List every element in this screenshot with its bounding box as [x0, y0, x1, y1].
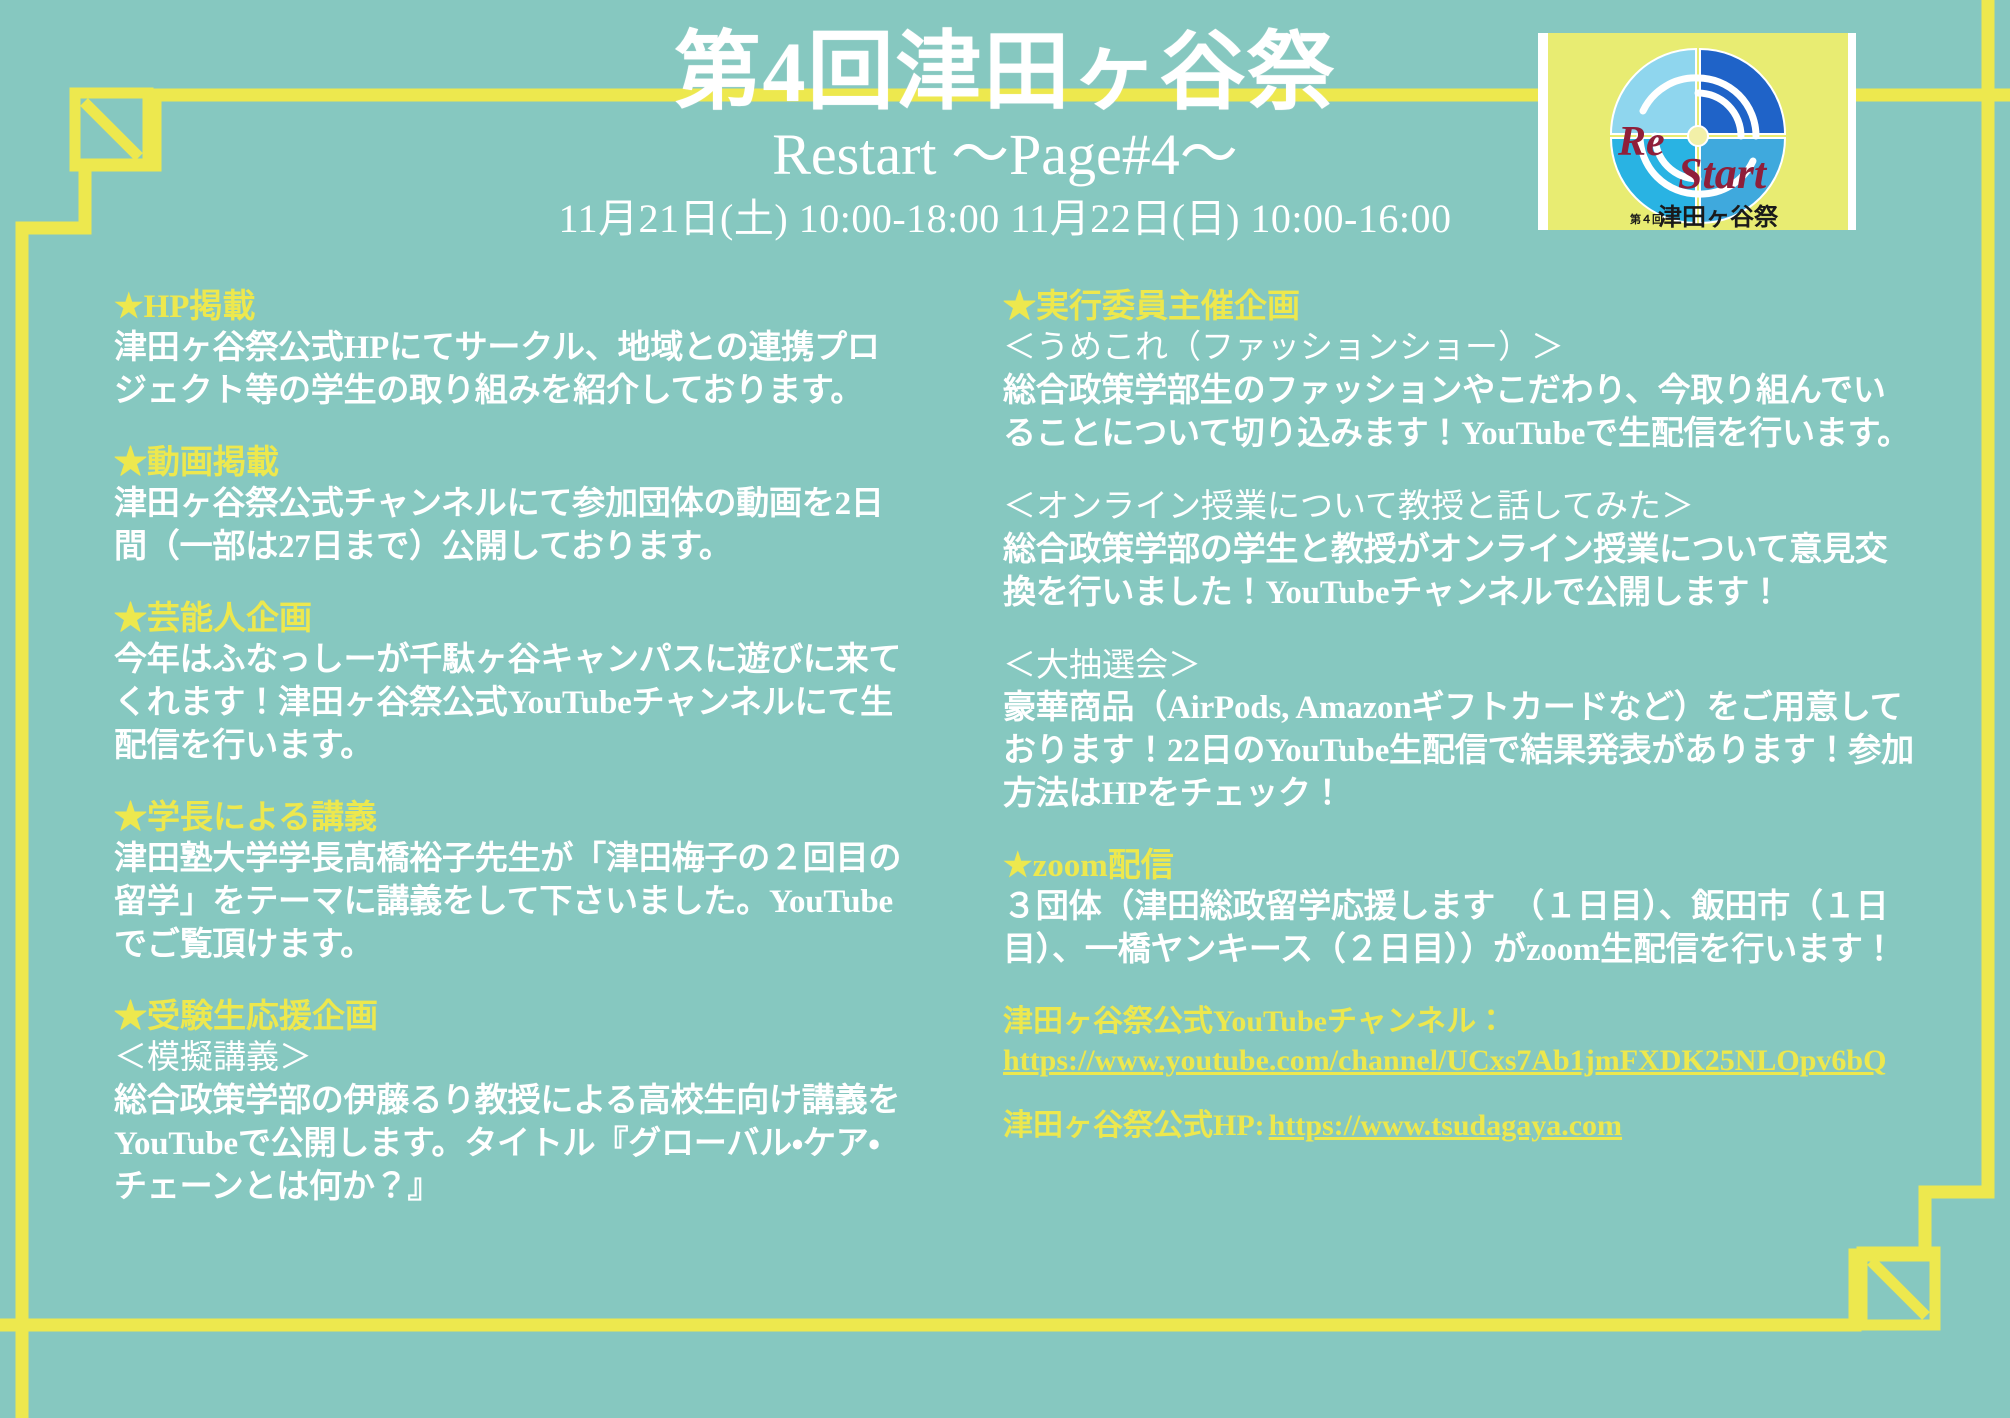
section-heading: ★学長による講義 — [114, 798, 904, 838]
section-committee-project: ★実行委員主催企画 ＜うめこれ（ファッションショー）＞ 総合政策学部生のファッシ… — [1003, 287, 1915, 456]
logo-artwork: Re Start 第４回 津田ヶ谷祭 — [1548, 33, 1848, 230]
section-body: 総合政策学部の伊藤るり教授による高校生向け講義をYouTubeで公開します。タイ… — [114, 1080, 904, 1209]
section-subheading: ＜模擬講義＞ — [114, 1037, 904, 1080]
logo-script-bottom: Start — [1678, 149, 1768, 198]
left-column: ★HP掲載 津田ヶ谷祭公式HPにてサークル、地域との連携プロジェクト等の学生の取… — [114, 287, 904, 1209]
hp-link-row: 津田ヶ谷祭公式HP: https://www.tsudagaya.com — [1003, 1106, 1915, 1145]
section-heading: ★zoom配信 — [1003, 846, 1915, 886]
section-heading: ★受験生応援企画 — [114, 997, 904, 1037]
right-column: ★実行委員主催企画 ＜うめこれ（ファッションショー）＞ 総合政策学部生のファッシ… — [1003, 287, 1915, 1145]
section-body: 豪華商品（AirPods, Amazonギフトカードなど）をご用意しております！… — [1003, 687, 1915, 816]
section-subheading: ＜大抽選会＞ — [1003, 645, 1915, 688]
logo-script-top: Re — [1617, 119, 1665, 165]
section-heading: ★HP掲載 — [114, 287, 904, 327]
section-heading: ★動画掲載 — [114, 443, 904, 483]
youtube-channel-link[interactable]: https://www.youtube.com/channel/UCxs7Ab1… — [1003, 1044, 1886, 1077]
section-exam-support: ★受験生応援企画 ＜模擬講義＞ 総合政策学部の伊藤るり教授による高校生向け講義を… — [114, 997, 904, 1209]
links-block: 津田ヶ谷祭公式YouTubeチャンネル： https://www.youtube… — [1003, 1002, 1915, 1145]
section-heading: ★芸能人企画 — [114, 599, 904, 639]
festival-logo: Re Start 第４回 津田ヶ谷祭 — [1538, 33, 1856, 230]
section-body: 津田ヶ谷祭公式HPにてサークル、地域との連携プロジェクト等の学生の取り組みを紹介… — [114, 327, 904, 413]
section-body: 総合政策学部生のファッションやこだわり、今取り組んでいることについて切り込みます… — [1003, 370, 1915, 456]
section-body: 総合政策学部の学生と教授がオンライン授業について意見交換を行いました！YouTu… — [1003, 529, 1915, 615]
section-online-class-talk: ＜オンライン授業について教授と話してみた＞ 総合政策学部の学生と教授がオンライン… — [1003, 486, 1915, 615]
hp-label: 津田ヶ谷祭公式HP: — [1003, 1109, 1265, 1142]
section-president-lecture: ★学長による講義 津田塾大学学長髙橋裕子先生が「津田梅子の２回目の留学」をテーマ… — [114, 798, 904, 967]
section-grand-lottery: ＜大抽選会＞ 豪華商品（AirPods, Amazonギフトカードなど）をご用意… — [1003, 645, 1915, 817]
section-body: 津田塾大学学長髙橋裕子先生が「津田梅子の２回目の留学」をテーマに講義をして下さい… — [114, 838, 904, 967]
youtube-channel-label: 津田ヶ谷祭公式YouTubeチャンネル： — [1003, 1002, 1915, 1041]
section-video-listing: ★動画掲載 津田ヶ谷祭公式チャンネルにて参加団体の動画を2日間（一部は27日まで… — [114, 443, 904, 569]
poster-root: 第4回津田ヶ谷祭 Restart ～Page#4～ 11月21日(土) 10:0… — [0, 0, 2010, 1418]
logo-caption: 津田ヶ谷祭 — [1658, 203, 1779, 230]
hp-link[interactable]: https://www.tsudagaya.com — [1269, 1109, 1622, 1142]
logo-background: Re Start 第４回 津田ヶ谷祭 — [1548, 33, 1848, 230]
section-heading: ★実行委員主催企画 — [1003, 287, 1915, 327]
section-body: 津田ヶ谷祭公式チャンネルにて参加団体の動画を2日間（一部は27日まで）公開してお… — [114, 483, 904, 569]
section-zoom-broadcast: ★zoom配信 ３団体（津田総政留学応援します （１日目）、飯田市（１日目）、一… — [1003, 846, 1915, 972]
section-subheading: ＜オンライン授業について教授と話してみた＞ — [1003, 486, 1915, 529]
section-celebrity-project: ★芸能人企画 今年はふなっしーが千駄ヶ谷キャンパスに遊びに来てくれます！津田ヶ谷… — [114, 599, 904, 768]
section-subheading: ＜うめこれ（ファッションショー）＞ — [1003, 327, 1915, 370]
section-body: 今年はふなっしーが千駄ヶ谷キャンパスに遊びに来てくれます！津田ヶ谷祭公式YouT… — [114, 639, 904, 768]
section-hp-listing: ★HP掲載 津田ヶ谷祭公式HPにてサークル、地域との連携プロジェクト等の学生の取… — [114, 287, 904, 413]
section-body: ３団体（津田総政留学応援します （１日目）、飯田市（１日目）、一橋ヤンキース（２… — [1003, 886, 1915, 972]
